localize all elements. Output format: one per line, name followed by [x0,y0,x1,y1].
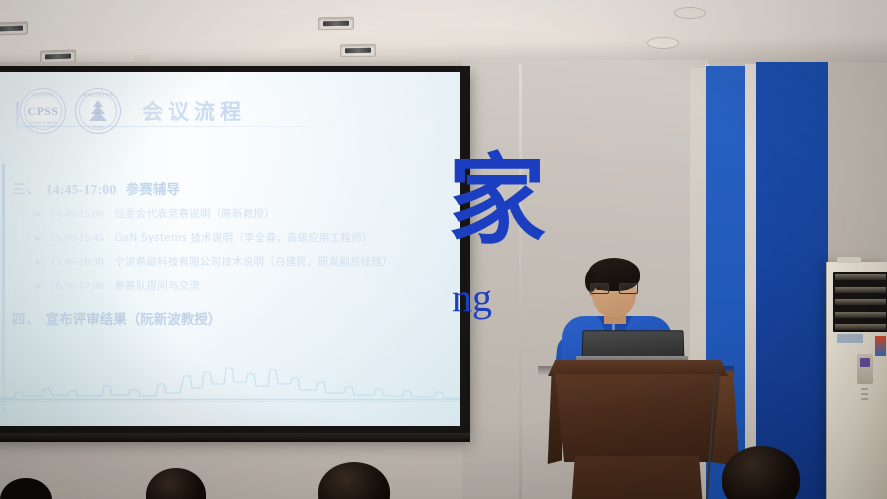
agenda-bullet: ➢ 16:30-17:00 参赛队提问与交流 [34,278,200,293]
agenda-section-4: 四、 宣布评审结果（阮新波教授） [12,308,221,328]
cpss-logo-icon: 中国电源学会 CPSS CHINA POWER SUPPLY SOCIETY [20,88,66,134]
section-time: 14:45-17:00 [46,182,117,197]
bullet-marker-icon: ➢ [34,282,42,292]
agenda-bullet: ➢ 14:45-15:00 组委会代表竞赛说明（陈新教授） [34,206,275,221]
ac-energy-label [875,336,886,356]
title-accent-bar [16,102,19,132]
ceiling-downlight [318,17,354,31]
bullet-marker-icon: ➢ [34,210,42,220]
ceiling-vent [675,8,705,18]
cpss-logo-text: CPSS [28,105,59,117]
slide: 中国电源学会 CPSS CHINA POWER SUPPLY SOCIETY 南… [0,72,460,426]
ac-button[interactable] [861,398,868,400]
wall-signage-chinese: 家 [448,152,546,250]
ceiling-vent [648,38,678,48]
speaker-eye [596,287,602,290]
agenda-bullet: ➢ 15:45-16:30 宁波希磁科技有限公司技术说明（白建民，研发副总经理） [34,254,393,269]
ac-brand-logo [837,334,863,343]
bullet-marker-icon: ➢ [34,234,42,244]
air-conditioner [826,262,887,499]
ac-display-panel[interactable] [857,354,873,384]
blue-wall-panel [756,62,828,499]
city-skyline-graphic [0,362,460,402]
bullet-text: 组委会代表竞赛说明（陈新教授） [114,208,275,220]
projection-screen: 中国电源学会 CPSS CHINA POWER SUPPLY SOCIETY 南… [0,72,460,426]
bullet-time: 16:30-17:00 [50,281,104,292]
agenda-section-3: 三、 14:45-17:00 参赛辅导 [12,178,180,198]
bullet-time: 15:45-16:30 [50,257,104,268]
title-divider [20,126,350,127]
cpss-logo-bottom-text: CHINA POWER SUPPLY SOCIETY [21,121,65,129]
ac-button[interactable] [861,388,868,390]
cpss-logo-top-text: 中国电源学会 [21,93,65,98]
podium-front-panel [550,374,726,462]
nuaa-logo-top-text: 南京航空航天大学 [76,93,120,98]
bullet-marker-icon: ➢ [34,258,42,268]
podium-top [548,360,728,376]
slide-title: 会议流程 [142,96,246,126]
ac-vent-grille [833,272,887,332]
ac-button[interactable] [861,393,868,395]
podium-base [568,456,706,499]
bullet-time: 14:45-15:00 [50,209,104,220]
podium-and-speaker [520,250,750,499]
pine-tree-icon [87,99,109,123]
section-heading: 参赛辅导 [126,182,180,198]
bullet-text: 宁波希磁科技有限公司技术说明（白建民，研发副总经理） [114,256,392,268]
bullet-time: 15:00-15:45 [50,233,104,244]
section-heading: 宣布评审结果（阮新波教授） [46,312,222,328]
bullet-text: GaN Systems 技术说明（李全春，高级应用工程师） [114,232,372,244]
section-number: 三、 [12,182,41,198]
ac-top-bar [837,257,861,263]
nuaa-logo-icon: 南京航空航天大学 NUAA [75,88,121,134]
section-number: 四、 [12,312,41,328]
ceiling-downlight [0,21,28,35]
ceiling-downlight [340,44,376,58]
slide-header: 中国电源学会 CPSS CHINA POWER SUPPLY SOCIETY 南… [20,88,246,134]
projection-screen-frame: 中国电源学会 CPSS CHINA POWER SUPPLY SOCIETY 南… [0,66,470,438]
agenda-bullet: ➢ 15:00-15:45 GaN Systems 技术说明（李全春，高级应用工… [34,230,372,245]
wall-signage-latin: ng [452,278,492,318]
bullet-text: 参赛队提问与交流 [114,280,200,292]
speaker-eye [623,287,629,290]
photo-scene: 家 ng 中国电源学会 CPSS CHINA POWER SUPPLY SOCI… [0,0,887,499]
